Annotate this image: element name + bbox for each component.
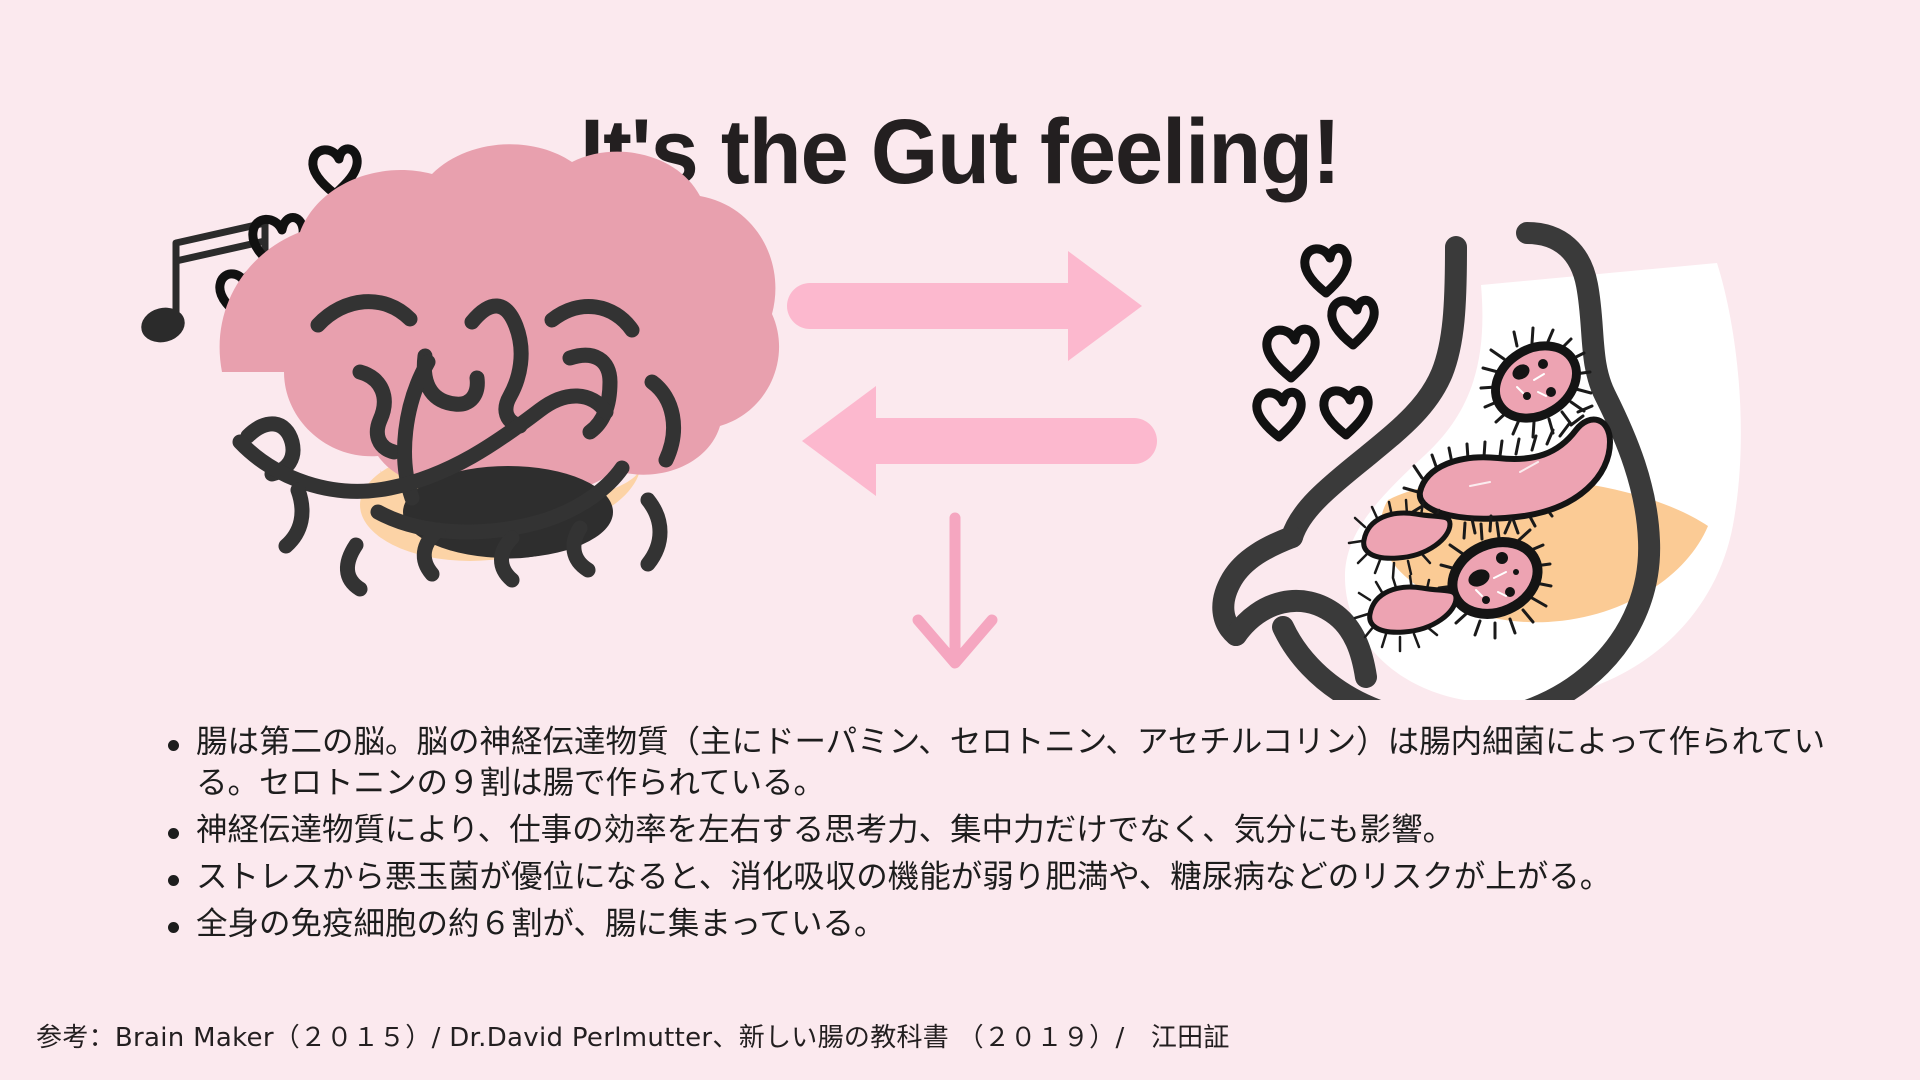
heart-icon xyxy=(1305,248,1347,293)
bacterium-rod-middle xyxy=(1404,406,1610,539)
slide-canvas: It's the Gut feeling! xyxy=(0,0,1920,1080)
bacterium-oval-lower xyxy=(1439,516,1551,638)
heart-icon xyxy=(1324,390,1368,435)
bacterium-oval-top xyxy=(1481,328,1591,437)
arrow-down-to-bullets xyxy=(918,518,992,663)
heart-icon xyxy=(1332,300,1374,345)
heart-icon xyxy=(348,217,390,261)
list-item: 神経伝達物質により、仕事の効率を左右する思考力、集中力だけでなく、気分にも影響。 xyxy=(196,810,1850,851)
page-title: It's the Gut feeling! xyxy=(58,104,1863,201)
bacterium-rod-small-left xyxy=(1349,500,1450,577)
heart-icon xyxy=(300,288,346,335)
heart-icon xyxy=(1267,329,1315,378)
bacterium-rod-small-bottom xyxy=(1355,576,1456,651)
heart-doodles-gut xyxy=(1257,248,1374,437)
bullet-list: 腸は第二の脳。脳の神経伝達物質（主にドーパミン、セロトニン、アセチルコリン）は腸… xyxy=(150,722,1850,951)
brain-illustration xyxy=(220,144,779,589)
heart-icon xyxy=(220,273,262,317)
list-item: ストレスから悪玉菌が優位になると、消化吸収の機能が弱り肥満や、糖尿病などのリスク… xyxy=(196,857,1850,898)
heart-icon xyxy=(1257,392,1301,437)
music-note-doodle xyxy=(176,223,265,322)
arrow-brain-to-gut xyxy=(787,251,1142,361)
heart-icon xyxy=(253,218,303,270)
arrow-gut-to-brain xyxy=(802,386,1157,496)
source-footnote: 参考：Brain Maker（２０１５）/ Dr.David Perlmutte… xyxy=(36,1017,1230,1054)
music-note-heads xyxy=(138,281,278,347)
list-item: 全身の免疫細胞の約６割が、腸に集まっている。 xyxy=(196,904,1850,945)
list-item: 腸は第二の脳。脳の神経伝達物質（主にドーパミン、セロトニン、アセチルコリン）は腸… xyxy=(196,722,1850,804)
stomach-illustration xyxy=(1223,233,1741,700)
